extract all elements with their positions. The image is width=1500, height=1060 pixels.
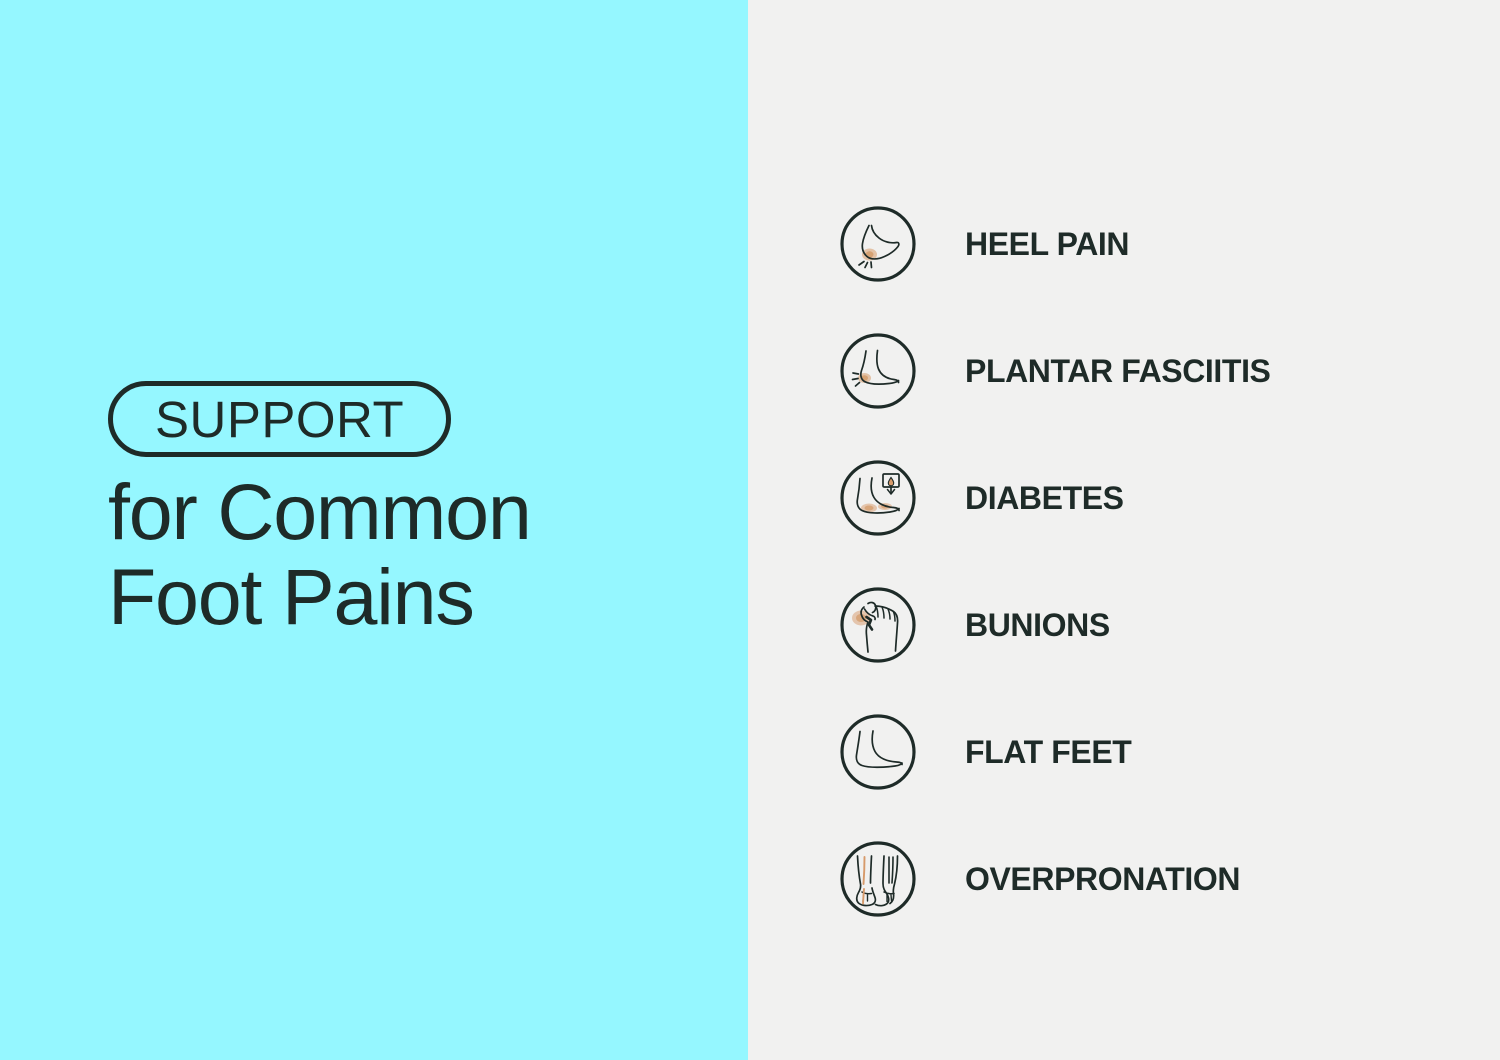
list-item: OVERPRONATION <box>838 815 1398 942</box>
page-title-line-1: for Common <box>108 470 531 555</box>
condition-label: DIABETES <box>965 482 1124 514</box>
list-item: BUNIONS <box>838 561 1398 688</box>
condition-label: PLANTAR FASCIITIS <box>965 355 1271 387</box>
condition-label: HEEL PAIN <box>965 228 1129 260</box>
condition-label: OVERPRONATION <box>965 863 1240 895</box>
diabetes-foot-icon <box>838 458 918 538</box>
page-title: for Common Foot Pains <box>108 470 531 639</box>
page-title-line-2: Foot Pains <box>108 555 531 640</box>
poster-canvas: SUPPORT for Common Foot Pains <box>0 0 1500 1060</box>
plantar-fasciitis-foot-icon <box>838 331 918 411</box>
support-badge: SUPPORT <box>108 381 451 457</box>
list-item: PLANTAR FASCIITIS <box>838 307 1398 434</box>
list-item: FLAT FEET <box>838 688 1398 815</box>
flat-feet-foot-icon <box>838 712 918 792</box>
bunions-foot-icon <box>838 585 918 665</box>
condition-label: FLAT FEET <box>965 736 1131 768</box>
support-badge-label: SUPPORT <box>155 394 404 445</box>
right-panel: HEEL PAIN PLANTAR FASCIITI <box>748 0 1500 1060</box>
left-panel: SUPPORT for Common Foot Pains <box>0 0 748 1060</box>
list-item: DIABETES <box>838 434 1398 561</box>
list-item: HEEL PAIN <box>838 180 1398 307</box>
condition-label: BUNIONS <box>965 609 1110 641</box>
overpronation-feet-icon <box>838 839 918 919</box>
heel-pain-foot-icon <box>838 204 918 284</box>
left-panel-content: SUPPORT for Common Foot Pains <box>108 381 531 639</box>
condition-list: HEEL PAIN PLANTAR FASCIITI <box>838 180 1398 942</box>
